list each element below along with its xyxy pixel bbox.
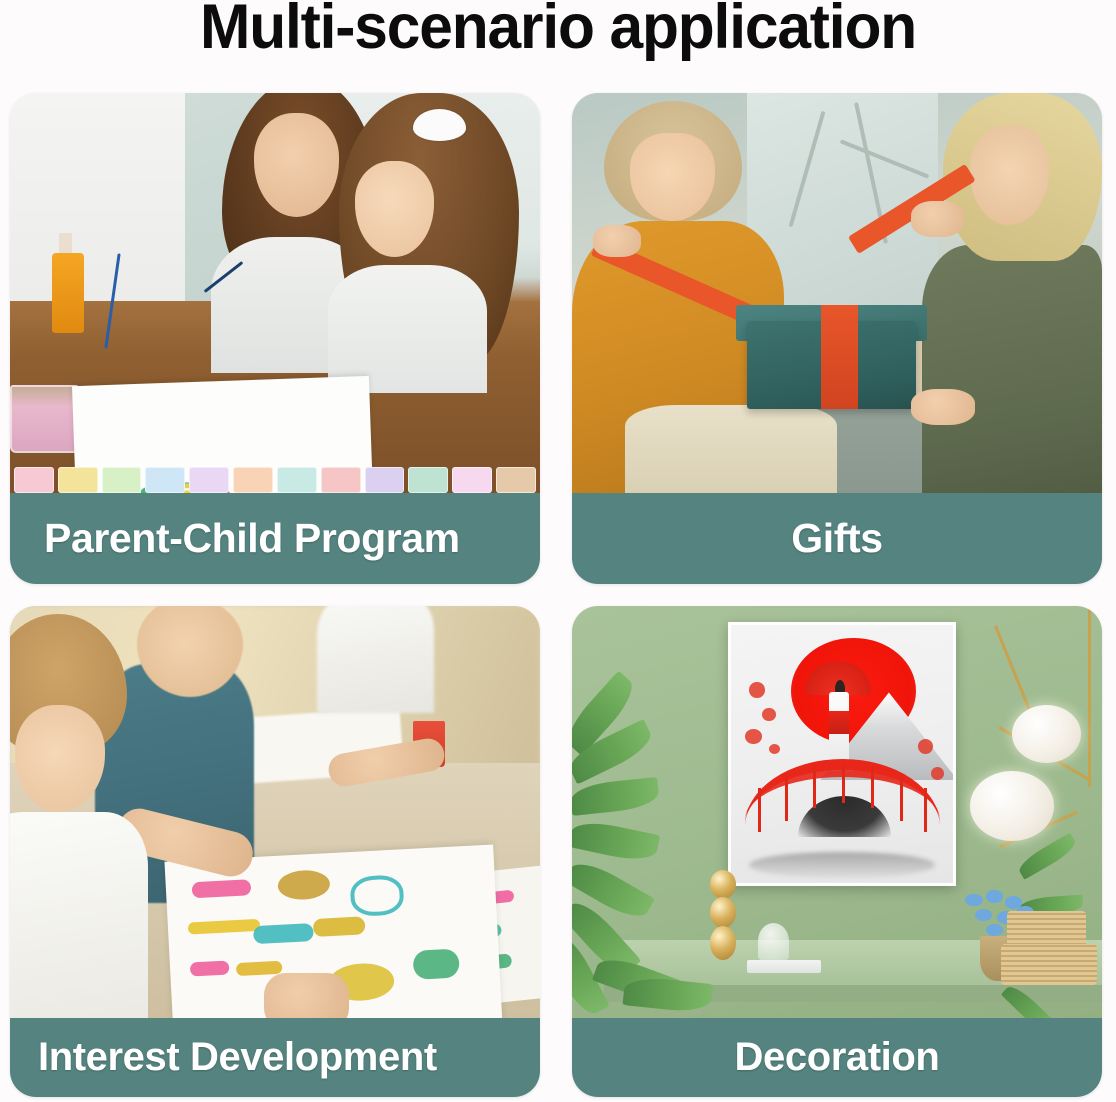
rattan-basket-bottom <box>1001 944 1096 985</box>
paint-pot <box>277 467 317 493</box>
paint-pot <box>321 467 361 493</box>
pendant-lamp <box>970 771 1055 841</box>
paint-pot <box>145 467 185 493</box>
poster-root: Multi-scenario application <box>0 0 1116 1102</box>
paint-pot <box>496 467 536 493</box>
gold-frame-line <box>1088 606 1091 787</box>
artwork-bridge-post <box>813 767 816 808</box>
ribbon-vertical <box>821 305 858 409</box>
artwork-cherry-blossom <box>762 708 775 721</box>
label-bar-interest-development: Interest Development <box>10 1018 540 1097</box>
paint-stroke <box>277 870 331 902</box>
orange-bottle <box>52 253 84 333</box>
artwork-canvas <box>731 625 953 883</box>
framed-artwork[interactable] <box>728 622 956 886</box>
panel-gifts[interactable]: Gifts <box>572 93 1102 584</box>
boy-white-shirt <box>10 812 148 1018</box>
palm-frond <box>572 777 660 816</box>
hand-girl <box>593 225 641 257</box>
child-far-right <box>317 606 434 713</box>
water-glass <box>10 385 79 453</box>
paint-pot <box>58 467 98 493</box>
panel-interest-development[interactable]: Interest Development <box>10 606 540 1097</box>
artwork-cherry-blossom <box>745 729 763 744</box>
paint-stroke <box>187 919 260 935</box>
paint-stroke <box>192 879 252 898</box>
artwork-bridge-post <box>785 775 788 821</box>
paint-pot <box>452 467 492 493</box>
paint-stroke <box>312 917 365 938</box>
panel-label-decoration: Decoration <box>572 1035 1102 1080</box>
artwork-bridge-post <box>758 788 761 832</box>
paint-stroke <box>236 961 283 976</box>
paint-pot <box>233 467 273 493</box>
label-bar-parent-child: Parent-Child Program <box>10 493 540 584</box>
photo-gift-opening <box>572 93 1102 493</box>
hand-woman-top <box>911 201 964 237</box>
panel-decoration[interactable]: Decoration <box>572 606 1102 1097</box>
palm-plant-left <box>572 713 731 1018</box>
panel-label-gifts: Gifts <box>572 515 1102 562</box>
glass-dome-ornament <box>758 923 790 960</box>
palm-frond <box>572 817 660 865</box>
label-bar-gifts: Gifts <box>572 493 1102 584</box>
panel-parent-child[interactable]: Parent-Child Program <box>10 93 540 584</box>
artwork-cherry-blossom <box>769 744 780 754</box>
gold-ornament-ball <box>710 870 737 899</box>
flower <box>986 924 1003 937</box>
gold-ornament-ball <box>710 897 737 928</box>
hand-woman-bottom <box>911 389 975 425</box>
photo-wall-decoration <box>572 606 1102 1018</box>
hand-foreground <box>264 973 349 1018</box>
paint-pot <box>102 467 142 493</box>
artwork-geisha-obi <box>829 711 849 734</box>
panel-label-parent-child: Parent-Child Program <box>10 515 540 562</box>
girl-pants <box>625 405 837 493</box>
photo-parent-child-painting <box>10 93 540 493</box>
panel-label-interest-development: Interest Development <box>10 1035 540 1080</box>
paint-stroke <box>189 960 229 977</box>
artwork-bridge-post <box>842 765 845 804</box>
photo-kids-art-class <box>10 606 540 1018</box>
pendant-lamp <box>1012 705 1081 763</box>
mother-face <box>254 113 339 217</box>
paint-pot-row <box>10 457 540 493</box>
paint-stroke <box>413 948 460 979</box>
palm-frond <box>1000 982 1058 1018</box>
page-title: Multi-scenario application <box>22 0 1093 59</box>
artwork-bridge-post <box>924 788 927 832</box>
artwork-bridge-post <box>900 775 903 821</box>
paint-pot <box>189 467 229 493</box>
paint-pot <box>14 467 54 493</box>
flower <box>965 894 982 907</box>
child-body <box>328 265 487 393</box>
gold-ornament-ball <box>710 926 737 960</box>
wall-left <box>10 93 190 325</box>
gold-ornament <box>710 870 737 961</box>
paint-pot <box>365 467 405 493</box>
paint-pot <box>408 467 448 493</box>
palm-frond <box>1016 833 1080 880</box>
label-bar-decoration: Decoration <box>572 1018 1102 1097</box>
hair-bow <box>413 109 466 141</box>
palm-frond <box>623 975 713 1014</box>
flower <box>975 909 992 922</box>
stacked-books <box>747 960 821 973</box>
artwork-water-reflection <box>749 852 935 878</box>
flower <box>986 890 1003 903</box>
woman-shirt <box>922 245 1102 493</box>
artwork-bridge-post <box>871 767 874 808</box>
rattan-basket-top <box>1007 911 1087 948</box>
paint-stroke <box>350 875 405 918</box>
paint-stroke <box>253 923 313 944</box>
artwork-cherry-blossom <box>749 682 765 697</box>
